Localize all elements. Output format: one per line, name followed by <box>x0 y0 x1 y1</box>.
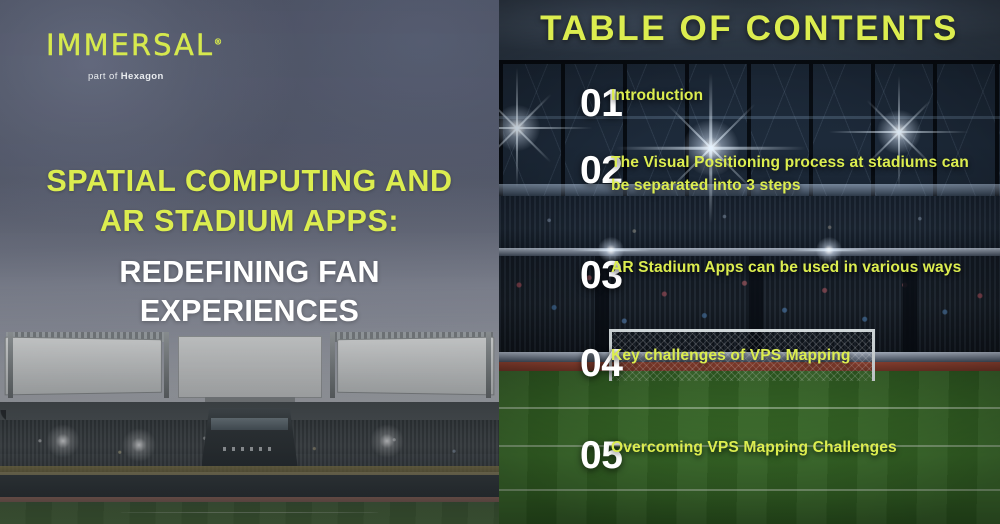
toc-item-05[interactable]: 05 Overcoming VPS Mapping Challenges <box>499 436 1000 475</box>
toc-item-label[interactable]: Overcoming VPS Mapping Challenges <box>611 436 1000 459</box>
registered-trademark-icon: ® <box>214 37 222 46</box>
logo-brand-text: IMMERSAL <box>46 28 214 62</box>
toc-item-number: 01 <box>499 84 611 123</box>
toc-item-label[interactable]: Key challenges of VPS Mapping <box>611 344 1000 367</box>
toc-item-04[interactable]: 04 Key challenges of VPS Mapping <box>499 344 1000 383</box>
toc-list: 01 Introduction 02 The Visual Positionin… <box>499 76 1000 524</box>
toc-item-label[interactable]: AR Stadium Apps can be used in various w… <box>611 256 1000 279</box>
toc-item-number: 03 <box>499 256 611 295</box>
toc-item-02[interactable]: 02 The Visual Positioning process at sta… <box>499 151 1000 198</box>
presentation-slide: IMMERSAL® part of Hexagon SPATIAL COMPUT… <box>0 0 1000 524</box>
table-of-contents-panel: TABLE OF CONTENTS 01 Introduction 02 The… <box>499 0 1000 524</box>
tagline-prefix: part of <box>88 71 121 82</box>
toc-item-01[interactable]: 01 Introduction <box>499 84 1000 123</box>
left-content: IMMERSAL® part of Hexagon SPATIAL COMPUT… <box>0 0 499 524</box>
title-line-accent: SPATIAL COMPUTING AND AR STADIUM APPS: <box>22 162 477 241</box>
immersal-logo[interactable]: IMMERSAL® part of Hexagon <box>46 31 222 82</box>
tagline-brand: Hexagon <box>121 71 164 82</box>
toc-item-number: 04 <box>499 344 611 383</box>
logo-tagline: part of Hexagon <box>88 71 222 82</box>
toc-heading: TABLE OF CONTENTS <box>499 9 1000 49</box>
page-title: SPATIAL COMPUTING AND AR STADIUM APPS: R… <box>22 162 477 331</box>
title-panel: IMMERSAL® part of Hexagon SPATIAL COMPUT… <box>0 0 499 524</box>
toc-item-number: 05 <box>499 436 611 475</box>
toc-item-label[interactable]: The Visual Positioning process at stadiu… <box>611 151 1000 198</box>
title-line-subtitle: REDEFINING FAN EXPERIENCES <box>22 253 477 331</box>
toc-item-03[interactable]: 03 AR Stadium Apps can be used in variou… <box>499 256 1000 295</box>
toc-item-number: 02 <box>499 151 611 190</box>
toc-item-label[interactable]: Introduction <box>611 84 1000 107</box>
toc-content: TABLE OF CONTENTS 01 Introduction 02 The… <box>499 0 1000 524</box>
logo-wordmark: IMMERSAL® <box>46 31 222 60</box>
